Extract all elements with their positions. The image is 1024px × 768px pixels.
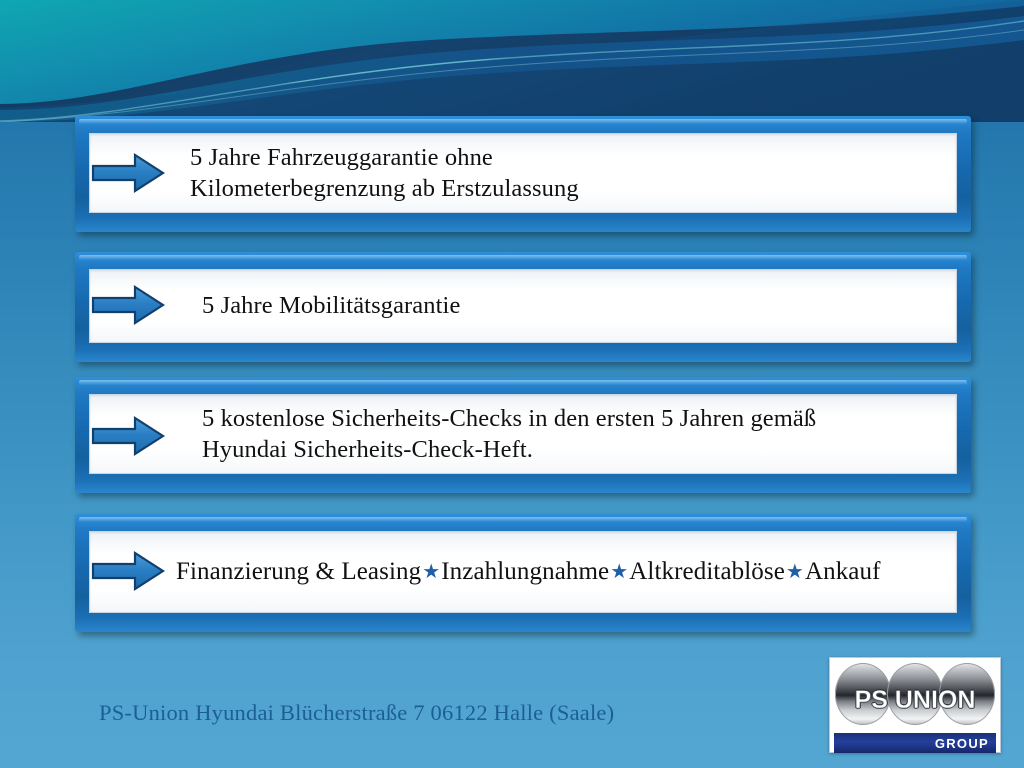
slide: 5 Jahre Fahrzeuggarantie ohne Kilometerb… [0,0,1024,768]
service-item-ankauf: Ankauf [805,558,881,585]
feature-panel-1: 5 Jahre Fahrzeuggarantie ohne Kilometerb… [89,133,957,213]
logo-discs: PS UNION [834,663,996,729]
feature-text-2: 5 Jahre Mobilitätsgarantie [202,290,460,321]
star-icon: ★ [421,561,441,583]
feature-text-1: 5 Jahre Fahrzeuggarantie ohne Kilometerb… [190,142,579,204]
service-item-finanzierung: Finanzierung & Leasing [176,558,421,585]
service-item-altkreditabloese: Altkreditablöse [629,558,785,585]
feature-panel-2: 5 Jahre Mobilitätsgarantie [89,269,957,343]
feature-box-1: 5 Jahre Fahrzeuggarantie ohne Kilometerb… [75,116,971,232]
feature-box-2: 5 Jahre Mobilitätsgarantie [75,252,971,362]
feature-box-3: 5 kostenlose Sicherheits-Checks in den e… [75,377,971,493]
feature-text-3: 5 kostenlose Sicherheits-Checks in den e… [202,403,816,465]
ps-union-group-logo: PS UNION GROUP [829,657,1001,753]
star-icon: ★ [785,561,805,583]
feature-panel-4: Finanzierung & Leasing★Inzahlungnahme★Al… [89,531,957,613]
logo-band: GROUP [834,733,996,753]
logo-band-text: GROUP [935,736,989,751]
star-icon: ★ [609,561,629,583]
feature-box-4: Finanzierung & Leasing★Inzahlungnahme★Al… [75,514,971,632]
service-item-inzahlungnahme: Inzahlungnahme [441,558,609,585]
logo-wordmark: PS UNION [834,686,996,715]
footer-address: PS-Union Hyundai Blücherstraße 7 06122 H… [99,700,614,726]
feature-text-4: Finanzierung & Leasing★Inzahlungnahme★Al… [176,556,881,588]
feature-panel-3: 5 kostenlose Sicherheits-Checks in den e… [89,394,957,474]
